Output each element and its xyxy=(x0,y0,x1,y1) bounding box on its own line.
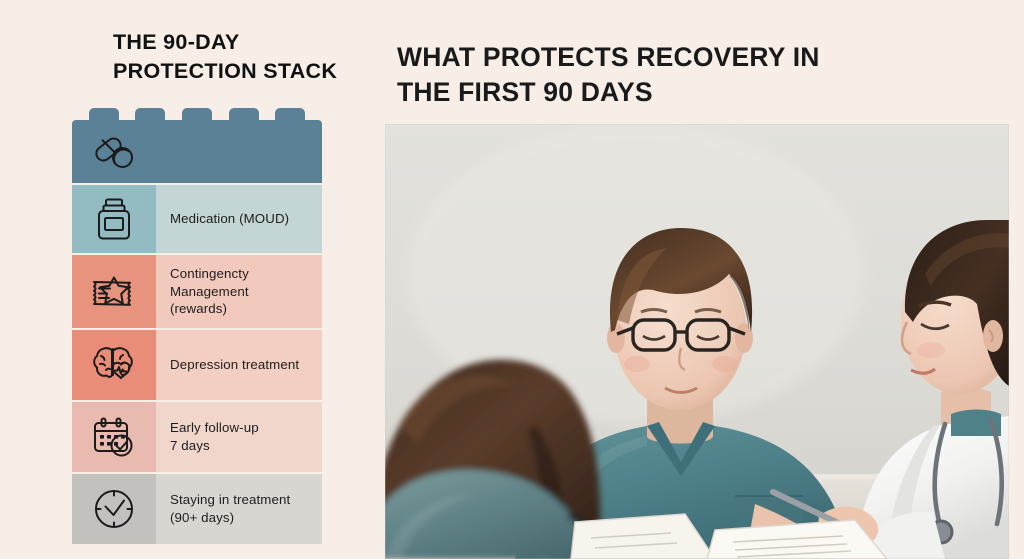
brick-moud[interactable]: Medication (MOUD) xyxy=(72,185,322,253)
right-edge-strip xyxy=(1009,0,1024,559)
clock-check-icon-cell xyxy=(72,474,156,544)
medicine-bottle-icon xyxy=(97,197,131,241)
brick-contingency-management[interactable]: Contingencty Management (rewards) xyxy=(72,255,322,328)
photo-illustration xyxy=(385,124,1009,559)
clinical-consultation-photo xyxy=(385,124,1009,559)
medicine-bottle-icon-cell xyxy=(72,185,156,253)
brick-depression-treatment-label-cell: Depression treatment xyxy=(156,330,322,400)
brick-early-followup-label-cell: Early follow-up 7 days xyxy=(156,402,322,472)
brain-heartbeat-icon-cell xyxy=(72,330,156,400)
brick-medication-header-label-cell xyxy=(156,120,322,183)
brick-moud-label: Medication (MOUD) xyxy=(170,210,289,228)
protection-stack-panel: THE 90-DAY PROTECTION STACK Medication (… xyxy=(0,0,385,559)
brick-staying-in-treatment-label-cell: Staying in treatment (90+ days) xyxy=(156,474,322,544)
brick-moud-label-cell: Medication (MOUD) xyxy=(156,185,322,253)
ticket-star-icon xyxy=(90,274,138,310)
brick-early-followup[interactable]: Early follow-up 7 days xyxy=(72,402,322,472)
calendar-check-icon-cell xyxy=(72,402,156,472)
ticket-star-icon-cell xyxy=(72,255,156,328)
lego-studs-row xyxy=(72,108,322,120)
infographic-slide: THE 90-DAY PROTECTION STACK Medication (… xyxy=(0,0,1024,559)
brick-early-followup-label: Early follow-up 7 days xyxy=(170,419,259,454)
brick-medication-header[interactable] xyxy=(72,120,322,183)
pills-icon-cell xyxy=(72,120,156,183)
brick-depression-treatment[interactable]: Depression treatment xyxy=(72,330,322,400)
brick-staying-in-treatment[interactable]: Staying in treatment (90+ days) xyxy=(72,474,322,544)
brick-staying-in-treatment-label: Staying in treatment (90+ days) xyxy=(170,491,290,526)
pills-icon xyxy=(92,134,136,170)
brick-contingency-management-label: Contingencty Management (rewards) xyxy=(170,265,249,318)
brick-contingency-management-label-cell: Contingencty Management (rewards) xyxy=(156,255,322,328)
brain-heartbeat-icon xyxy=(92,344,136,386)
protection-stack: Medication (MOUD)Contingencty Management… xyxy=(72,108,322,546)
clock-check-icon xyxy=(92,487,136,531)
headline-and-photo-panel: WHAT PROTECTS RECOVERY IN THE FIRST 90 D… xyxy=(385,0,1024,559)
stack-brick-list: Medication (MOUD)Contingencty Management… xyxy=(72,120,322,544)
headline: WHAT PROTECTS RECOVERY IN THE FIRST 90 D… xyxy=(397,40,1007,110)
calendar-check-icon xyxy=(92,416,136,458)
stack-title: THE 90-DAY PROTECTION STACK xyxy=(113,28,373,85)
brick-depression-treatment-label: Depression treatment xyxy=(170,356,299,374)
